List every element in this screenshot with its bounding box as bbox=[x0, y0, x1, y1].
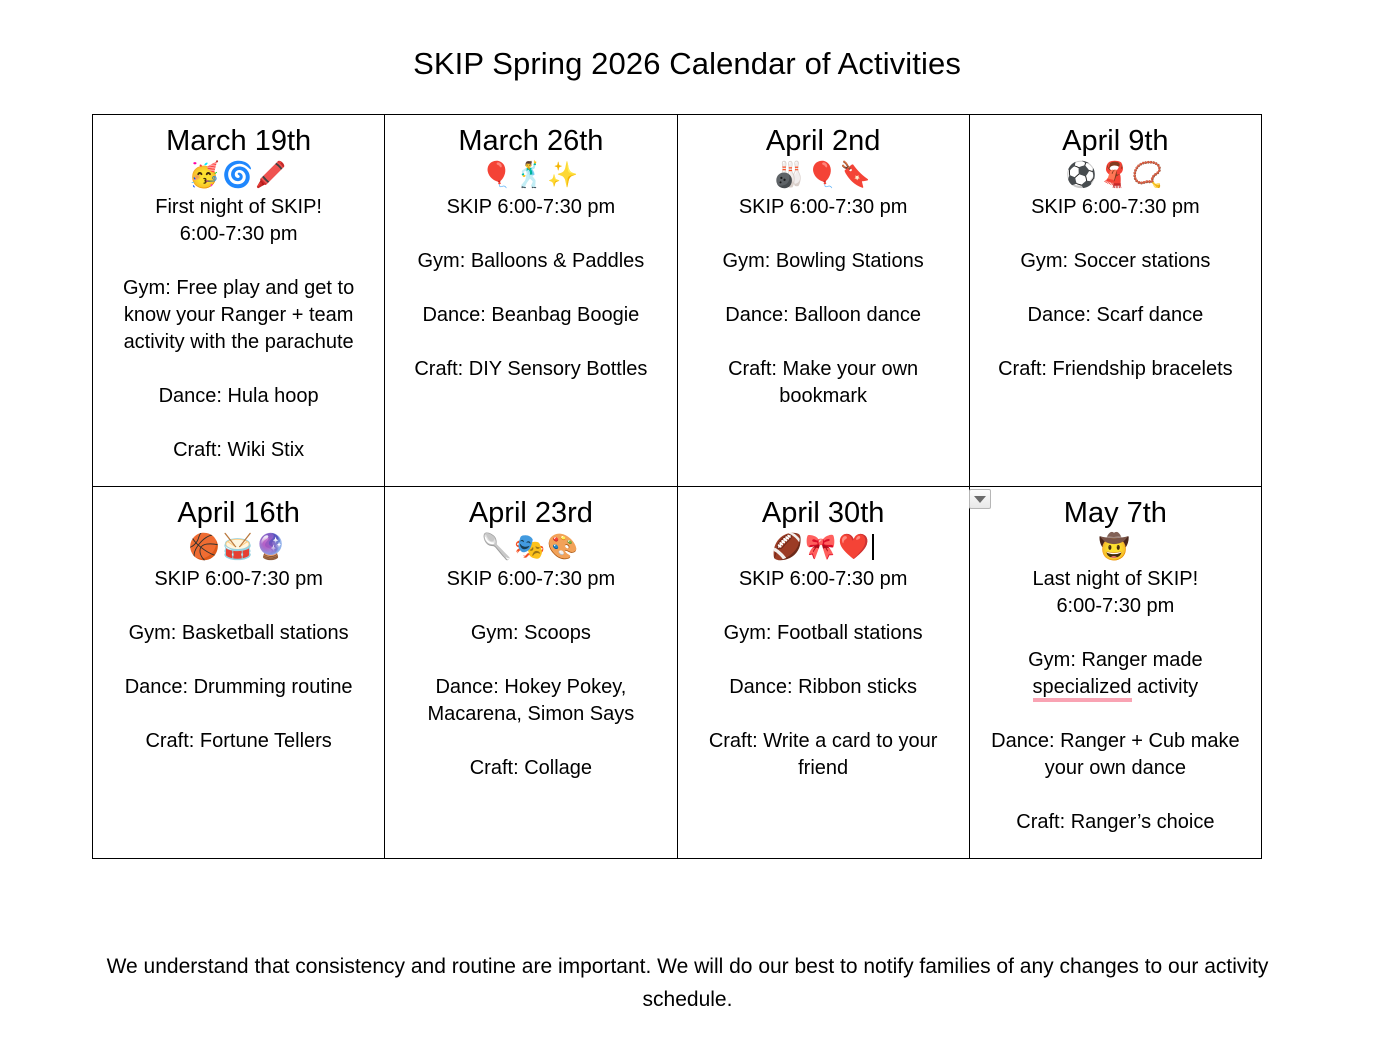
cell-line-craft: Craft: Ranger’s choice bbox=[980, 809, 1251, 836]
cell-line: Last night of SKIP! bbox=[980, 566, 1251, 593]
cell-line-time: SKIP 6:00-7:30 pm bbox=[688, 566, 959, 593]
cell-emoji-row: ⚽🧣📿 bbox=[980, 160, 1251, 191]
cell-spacer bbox=[103, 248, 374, 275]
cell-line-dance: Dance: Hokey Pokey, Macarena, Simon Says bbox=[395, 674, 666, 728]
chevron-down-icon bbox=[974, 496, 986, 503]
cell-emoji-row: 🤠 bbox=[980, 532, 1251, 563]
cell-content: April 16th 🏀🥁🔮 SKIP 6:00-7:30 pm Gym: Ba… bbox=[93, 487, 384, 761]
spellcheck-misspelled-word[interactable]: specialized bbox=[1033, 676, 1132, 702]
cell-line-gym: Gym: Basketball stations bbox=[103, 620, 374, 647]
cell-line-dance: Dance: Beanbag Boogie bbox=[395, 302, 666, 329]
cell-spacer bbox=[395, 275, 666, 302]
calendar-cell-march-19[interactable]: March 19th 🥳🌀🖍️ First night of SKIP! 6:0… bbox=[93, 115, 385, 487]
calendar-cell-march-26[interactable]: March 26th 🎈🕺✨ SKIP 6:00-7:30 pm Gym: Ba… bbox=[385, 115, 677, 487]
cell-content: March 19th 🥳🌀🖍️ First night of SKIP! 6:0… bbox=[93, 115, 384, 470]
cell-spacer bbox=[103, 701, 374, 728]
cell-spacer bbox=[980, 221, 1251, 248]
cell-line: 6:00-7:30 pm bbox=[980, 593, 1251, 620]
cell-date: May 7th bbox=[980, 495, 1251, 531]
calendar-table-body: March 19th 🥳🌀🖍️ First night of SKIP! 6:0… bbox=[93, 115, 1262, 859]
cell-line-craft: Craft: Wiki Stix bbox=[103, 437, 374, 464]
cell-line-gym: Gym: Scoops bbox=[395, 620, 666, 647]
calendar-cell-april-9[interactable]: April 9th ⚽🧣📿 SKIP 6:00-7:30 pm Gym: Soc… bbox=[969, 115, 1261, 487]
cell-line-dance: Dance: Balloon dance bbox=[688, 302, 959, 329]
cell-spacer bbox=[688, 329, 959, 356]
cell-date: April 9th bbox=[980, 123, 1251, 159]
cell-content: April 2nd 🎳🎈🔖 SKIP 6:00-7:30 pm Gym: Bow… bbox=[678, 115, 969, 416]
calendar-cell-april-30[interactable]: April 30th 🏈🎀❤️ SKIP 6:00-7:30 pm Gym: F… bbox=[677, 487, 969, 859]
cell-line-craft: Craft: Make your own bookmark bbox=[688, 356, 959, 410]
cell-line-time: SKIP 6:00-7:30 pm bbox=[103, 566, 374, 593]
cell-spacer bbox=[395, 593, 666, 620]
table-row: March 19th 🥳🌀🖍️ First night of SKIP! 6:0… bbox=[93, 115, 1262, 487]
calendar-table: March 19th 🥳🌀🖍️ First night of SKIP! 6:0… bbox=[92, 114, 1262, 859]
cell-line-craft: Craft: DIY Sensory Bottles bbox=[395, 356, 666, 383]
cell-spacer bbox=[395, 728, 666, 755]
gym-prefix: Gym: Ranger made bbox=[1028, 649, 1203, 671]
cell-line-gym: Gym: Balloons & Paddles bbox=[395, 248, 666, 275]
cell-line-dance: Dance: Hula hoop bbox=[103, 383, 374, 410]
cell-spacer bbox=[688, 275, 959, 302]
cell-line-time: SKIP 6:00-7:30 pm bbox=[395, 566, 666, 593]
cell-line-craft: Craft: Friendship bracelets bbox=[980, 356, 1251, 383]
cell-emoji-row: 🥄🎭🎨 bbox=[395, 532, 666, 563]
cell-line-craft: Craft: Fortune Tellers bbox=[103, 728, 374, 755]
footer-note: We understand that consistency and routi… bbox=[95, 950, 1280, 1016]
cell-spacer bbox=[395, 221, 666, 248]
cell-date: March 26th bbox=[395, 123, 666, 159]
cell-date: March 19th bbox=[103, 123, 374, 159]
cell-content: May 7th 🤠 Last night of SKIP! 6:00-7:30 … bbox=[970, 487, 1261, 842]
cell-line-gym: Gym: Football stations bbox=[688, 620, 959, 647]
cell-spacer bbox=[980, 620, 1251, 647]
calendar-cell-april-23[interactable]: April 23rd 🥄🎭🎨 SKIP 6:00-7:30 pm Gym: Sc… bbox=[385, 487, 677, 859]
cell-line-dance: Dance: Ribbon sticks bbox=[688, 674, 959, 701]
table-row: April 16th 🏀🥁🔮 SKIP 6:00-7:30 pm Gym: Ba… bbox=[93, 487, 1262, 859]
cell-content: April 23rd 🥄🎭🎨 SKIP 6:00-7:30 pm Gym: Sc… bbox=[385, 487, 676, 788]
cell-line-time: SKIP 6:00-7:30 pm bbox=[980, 194, 1251, 221]
gym-suffix: activity bbox=[1132, 676, 1199, 698]
cell-spacer bbox=[980, 329, 1251, 356]
cell-emoji-row: 🏀🥁🔮 bbox=[103, 532, 374, 563]
cell-content: April 30th 🏈🎀❤️ SKIP 6:00-7:30 pm Gym: F… bbox=[678, 487, 969, 788]
cell-spacer bbox=[103, 410, 374, 437]
cell-line-time: SKIP 6:00-7:30 pm bbox=[395, 194, 666, 221]
cell-line-dance: Dance: Ranger + Cub make your own dance bbox=[980, 728, 1251, 782]
cell-content: April 9th ⚽🧣📿 SKIP 6:00-7:30 pm Gym: Soc… bbox=[970, 115, 1261, 389]
calendar-cell-april-2[interactable]: April 2nd 🎳🎈🔖 SKIP 6:00-7:30 pm Gym: Bow… bbox=[677, 115, 969, 487]
cell-emoji-text: 🏈🎀❤️ bbox=[772, 533, 871, 561]
text-caret bbox=[872, 534, 874, 560]
calendar-cell-may-7[interactable]: May 7th 🤠 Last night of SKIP! 6:00-7:30 … bbox=[969, 487, 1261, 859]
cell-spacer bbox=[688, 647, 959, 674]
page-title: SKIP Spring 2026 Calendar of Activities bbox=[0, 44, 1374, 84]
document-page: SKIP Spring 2026 Calendar of Activities … bbox=[0, 0, 1374, 1054]
cell-emoji-row: 🏈🎀❤️ bbox=[688, 532, 959, 563]
cell-spacer bbox=[395, 329, 666, 356]
cell-emoji-row: 🎈🕺✨ bbox=[395, 160, 666, 191]
cell-line: First night of SKIP! bbox=[103, 194, 374, 221]
cell-spacer bbox=[103, 356, 374, 383]
cell-line-gym: Gym: Free play and get to know your Rang… bbox=[103, 275, 374, 356]
cell-line-craft: Craft: Collage bbox=[395, 755, 666, 782]
cell-emoji-row: 🎳🎈🔖 bbox=[688, 160, 959, 191]
cell-spacer bbox=[688, 701, 959, 728]
cell-spacer bbox=[103, 593, 374, 620]
cell-line-gym: Gym: Ranger made specialized activity bbox=[980, 647, 1251, 701]
cell-line-dance: Dance: Drumming routine bbox=[103, 674, 374, 701]
cell-spacer bbox=[395, 647, 666, 674]
cell-line-gym: Gym: Soccer stations bbox=[980, 248, 1251, 275]
cell-content: March 26th 🎈🕺✨ SKIP 6:00-7:30 pm Gym: Ba… bbox=[385, 115, 676, 389]
cell-line-dance: Dance: Scarf dance bbox=[980, 302, 1251, 329]
table-dropdown-handle[interactable] bbox=[969, 489, 991, 509]
cell-spacer bbox=[688, 593, 959, 620]
cell-line: 6:00-7:30 pm bbox=[103, 221, 374, 248]
cell-emoji-row: 🥳🌀🖍️ bbox=[103, 160, 374, 191]
cell-spacer bbox=[980, 275, 1251, 302]
calendar-cell-april-16[interactable]: April 16th 🏀🥁🔮 SKIP 6:00-7:30 pm Gym: Ba… bbox=[93, 487, 385, 859]
cell-spacer bbox=[103, 647, 374, 674]
cell-date: April 23rd bbox=[395, 495, 666, 531]
cell-line-time: SKIP 6:00-7:30 pm bbox=[688, 194, 959, 221]
cell-spacer bbox=[980, 701, 1251, 728]
cell-spacer bbox=[980, 782, 1251, 809]
cell-line-gym: Gym: Bowling Stations bbox=[688, 248, 959, 275]
cell-spacer bbox=[688, 221, 959, 248]
cell-line-craft: Craft: Write a card to your friend bbox=[688, 728, 959, 782]
cell-date: April 16th bbox=[103, 495, 374, 531]
cell-date: April 2nd bbox=[688, 123, 959, 159]
cell-date: April 30th bbox=[688, 495, 959, 531]
